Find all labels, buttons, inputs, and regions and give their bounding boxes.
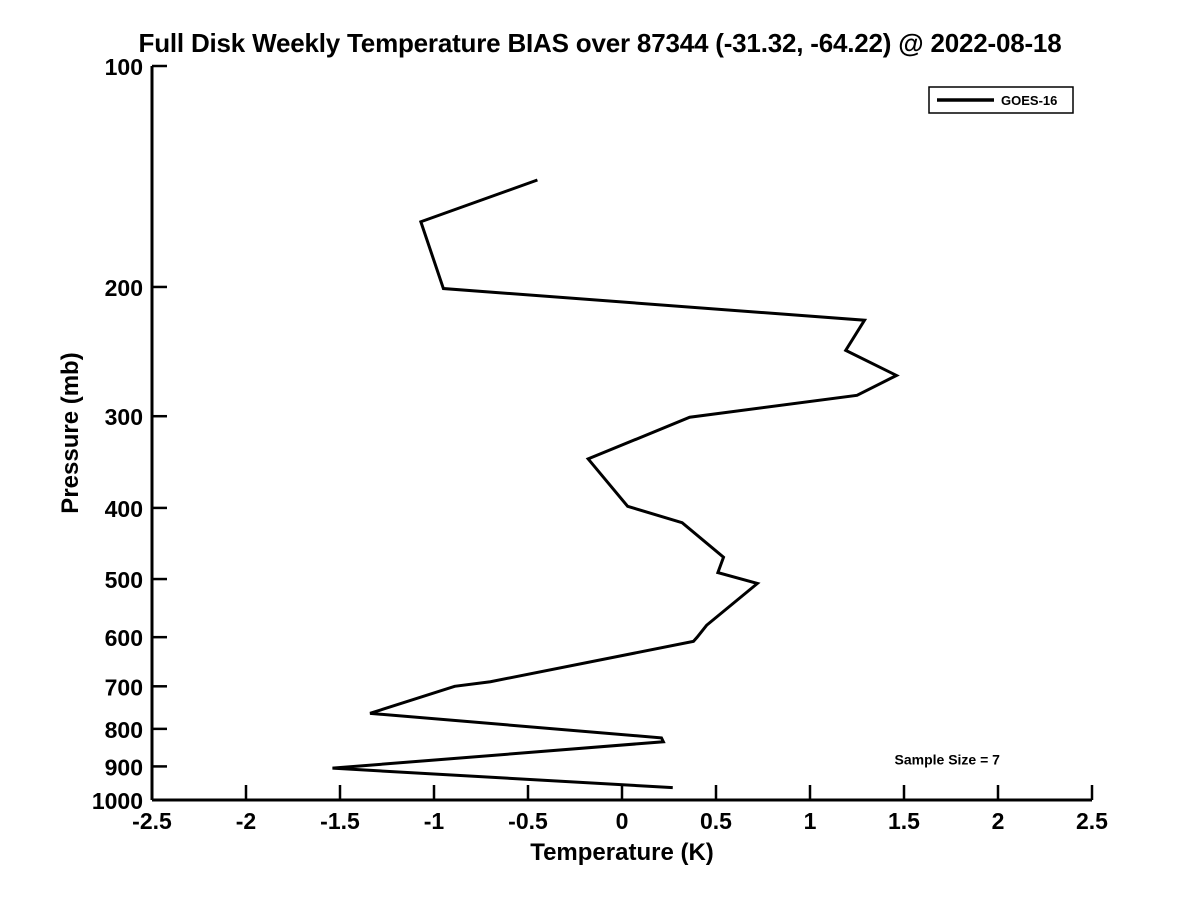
axis-frame xyxy=(152,66,1092,800)
x-axis: -2.5-2-1.5-1-0.500.511.522.5 xyxy=(132,785,1108,834)
x-axis-label: Temperature (K) xyxy=(530,839,714,866)
x-tick-label: -1 xyxy=(424,808,445,834)
x-tick-label: -1.5 xyxy=(320,808,360,834)
y-tick-label: 500 xyxy=(105,567,143,593)
x-tick-label: 2 xyxy=(992,808,1005,834)
y-tick-label: 600 xyxy=(105,625,143,651)
y-tick-label: 800 xyxy=(105,717,143,743)
series-line-goes-16 xyxy=(332,180,896,788)
plot-area: 1002003004005006007008009001000 -2.5-2-1… xyxy=(0,0,1200,900)
chart-figure: Full Disk Weekly Temperature BIAS over 8… xyxy=(0,0,1200,900)
y-tick-label: 200 xyxy=(105,275,143,301)
y-tick-label: 700 xyxy=(105,674,143,700)
x-tick-label: 1 xyxy=(804,808,817,834)
x-tick-label: 1.5 xyxy=(888,808,920,834)
x-tick-label: -0.5 xyxy=(508,808,548,834)
y-tick-label: 400 xyxy=(105,496,143,522)
sample-size-annotation: Sample Size = 7 xyxy=(895,752,1001,768)
x-tick-label: -2.5 xyxy=(132,808,172,834)
y-axis: 1002003004005006007008009001000 xyxy=(92,54,167,814)
y-tick-label: 900 xyxy=(105,754,143,780)
data-series xyxy=(332,180,896,788)
x-tick-label: -2 xyxy=(236,808,256,834)
y-tick-label: 300 xyxy=(105,404,143,430)
y-tick-label: 100 xyxy=(105,54,143,80)
legend-label-goes16: GOES-16 xyxy=(1001,93,1057,108)
legend: GOES-16 xyxy=(929,87,1073,113)
x-tick-label: 2.5 xyxy=(1076,808,1108,834)
x-tick-label: 0 xyxy=(616,808,629,834)
x-tick-label: 0.5 xyxy=(700,808,732,834)
y-axis-label: Pressure (mb) xyxy=(57,352,84,513)
